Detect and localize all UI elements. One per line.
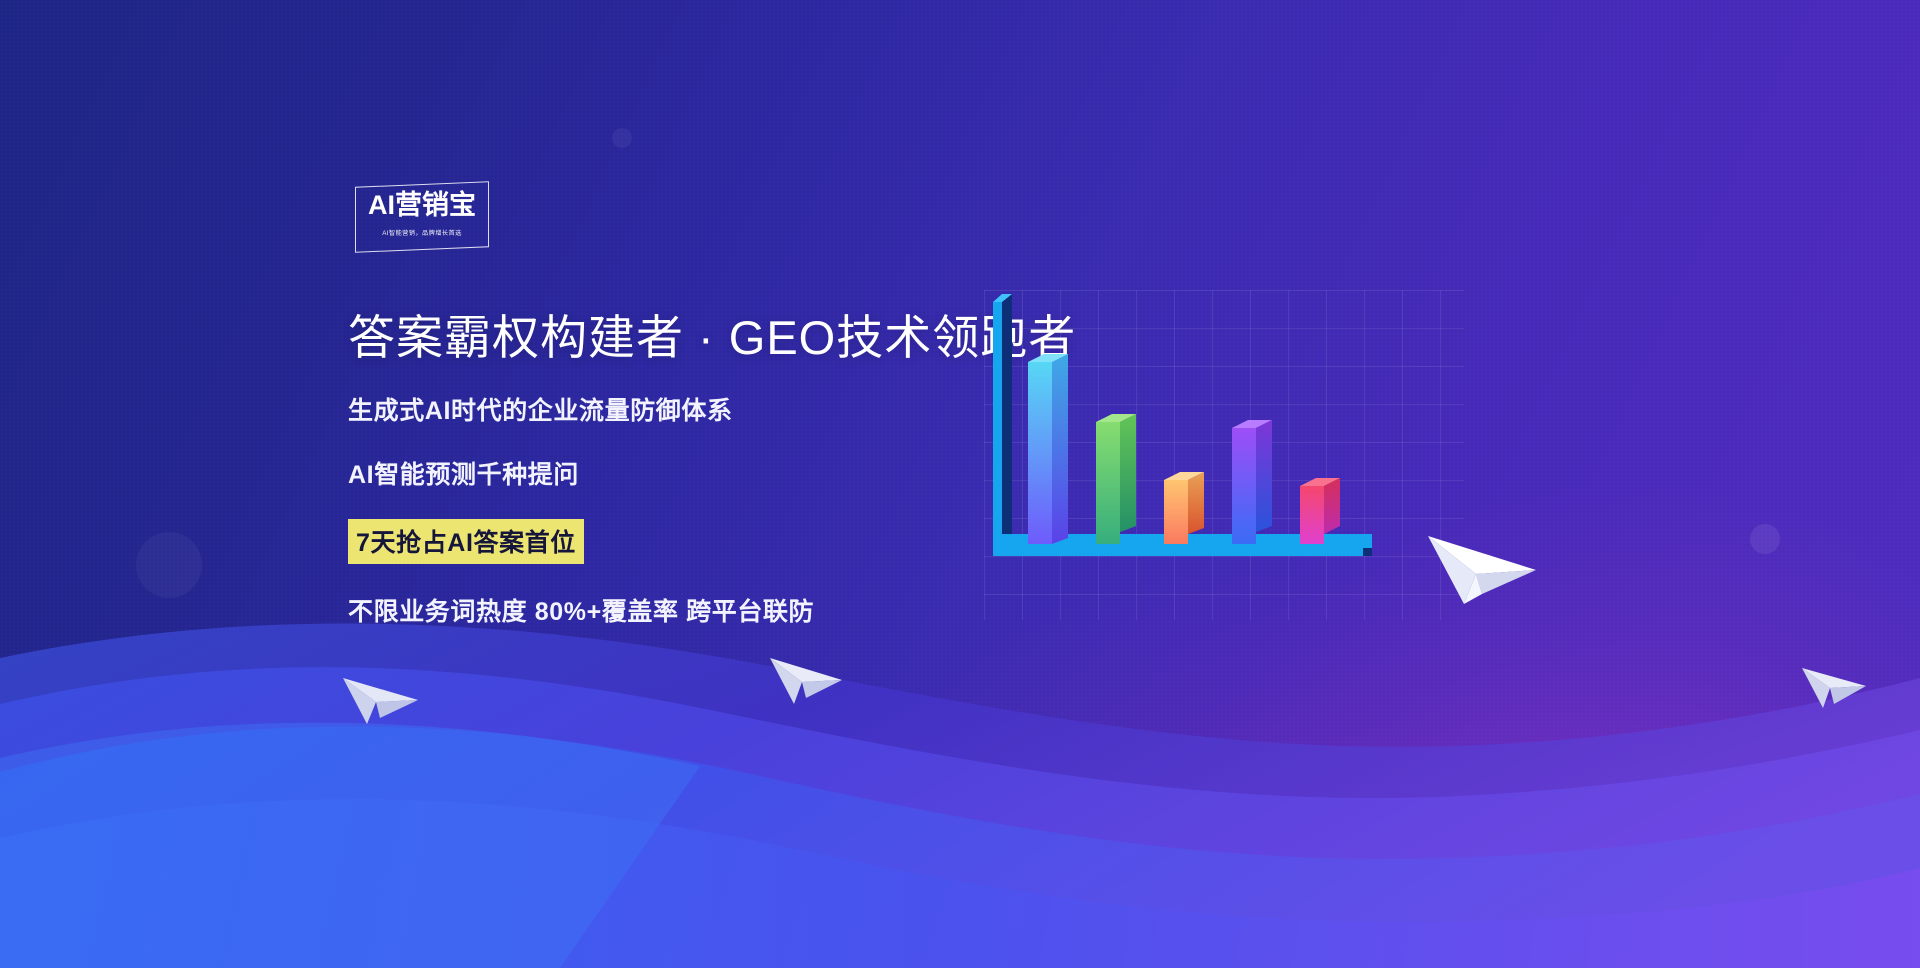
bar-chart-illustration xyxy=(960,280,1480,680)
chart-bar-3 xyxy=(1164,472,1204,544)
hero-highlight-badge: 7天抢占AI答案首位 xyxy=(348,519,584,564)
chart-svg xyxy=(960,280,1480,680)
brand-logo[interactable]: AI营销宝 AI智能营销，品牌增长首选 xyxy=(355,184,489,250)
logo-name: AI营销宝 xyxy=(355,192,489,219)
chart-bar-1 xyxy=(1028,354,1068,548)
hero-banner: AI营销宝 AI智能营销，品牌增长首选 答案霸权构建者 · GEO技术领跑者 生… xyxy=(0,0,1920,968)
chart-y-axis xyxy=(993,294,1012,556)
chart-bar-4 xyxy=(1232,420,1272,544)
chart-bar-2 xyxy=(1096,414,1136,544)
logo-tagline: AI智能营销，品牌增长首选 xyxy=(358,227,487,237)
decor-circle-small xyxy=(612,128,632,148)
